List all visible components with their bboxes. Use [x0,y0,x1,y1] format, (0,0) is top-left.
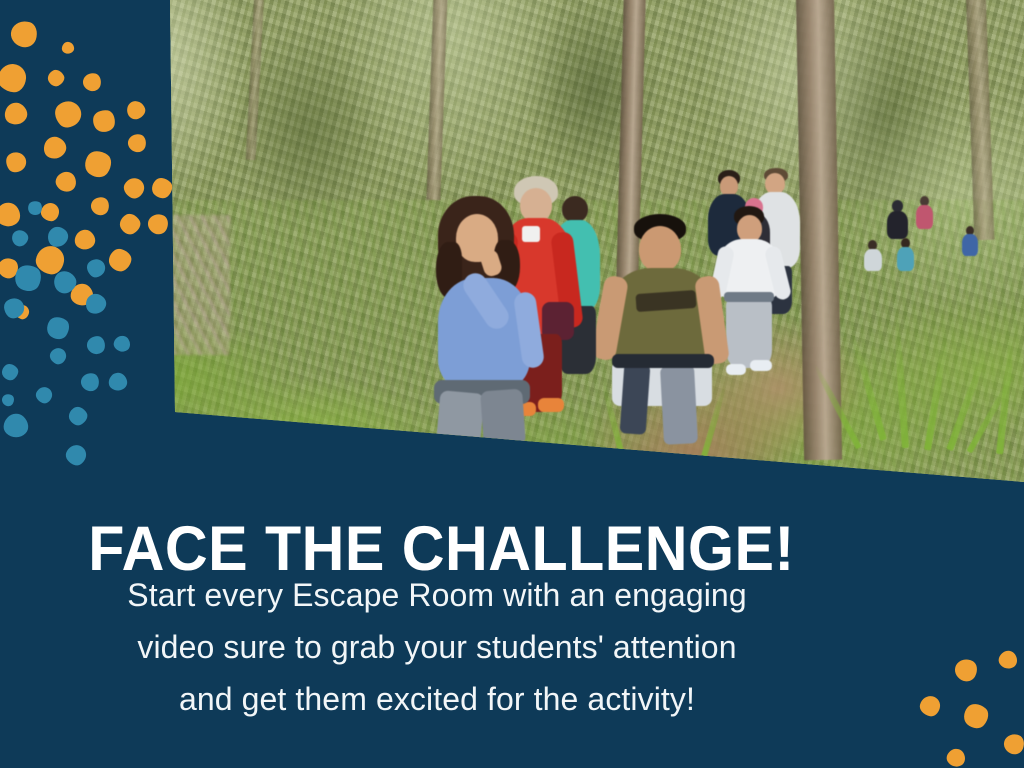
dot-orange [60,40,77,57]
body-line: video sure to grab your students' attent… [0,622,874,674]
dot-teal [0,409,33,443]
dot-orange [116,210,143,237]
dot-teal [0,361,21,384]
dot-orange [89,195,111,217]
distant-figure [915,196,935,246]
dot-orange [145,211,171,237]
promotional-poster: FACE THE CHALLENGE! Start every Escape R… [0,0,1024,768]
dot-orange [0,63,27,93]
dot-orange [126,132,148,154]
dot-orange [41,134,70,163]
child-hiker-blue-hoodie [432,196,542,446]
dot-teal [43,313,74,344]
distant-figure [896,238,916,282]
dot-teal [66,404,91,429]
dot-orange [148,174,176,202]
dot-orange [45,67,67,89]
dot-teal [86,335,106,355]
dot-orange [0,198,25,232]
dot-teal [83,255,108,280]
dot-orange [1,99,31,129]
dot-teal [34,385,55,406]
dot-orange [105,245,136,276]
dot-orange [1001,731,1024,757]
body-line: Start every Escape Room with an engaging [0,570,874,622]
dot-orange [40,202,60,222]
dot-teal [0,392,16,408]
dot-teal [47,345,68,366]
dot-teal [105,369,130,394]
dot-orange [81,71,102,92]
dot-teal [79,371,101,393]
child-hiker-olive-shirt [608,214,718,444]
dot-teal [63,442,88,467]
dot-orange [92,109,117,134]
distant-figure [962,226,980,266]
dot-orange [8,18,41,51]
dot-orange [2,148,30,176]
dot-orange [944,746,969,768]
dot-orange [71,226,99,254]
dot-orange [80,146,116,182]
body-copy: Start every Escape Room with an engaging… [0,570,1024,725]
distant-figure [862,240,884,282]
dot-teal [111,333,133,355]
body-line: and get them excited for the activity! [0,674,874,726]
confetti-dot-pattern-left [0,0,180,480]
dot-orange [124,98,147,121]
dot-teal [9,227,31,249]
dot-orange [50,96,87,133]
dot-orange [53,169,79,195]
tree-trunk [796,0,842,460]
dot-orange [120,174,147,201]
